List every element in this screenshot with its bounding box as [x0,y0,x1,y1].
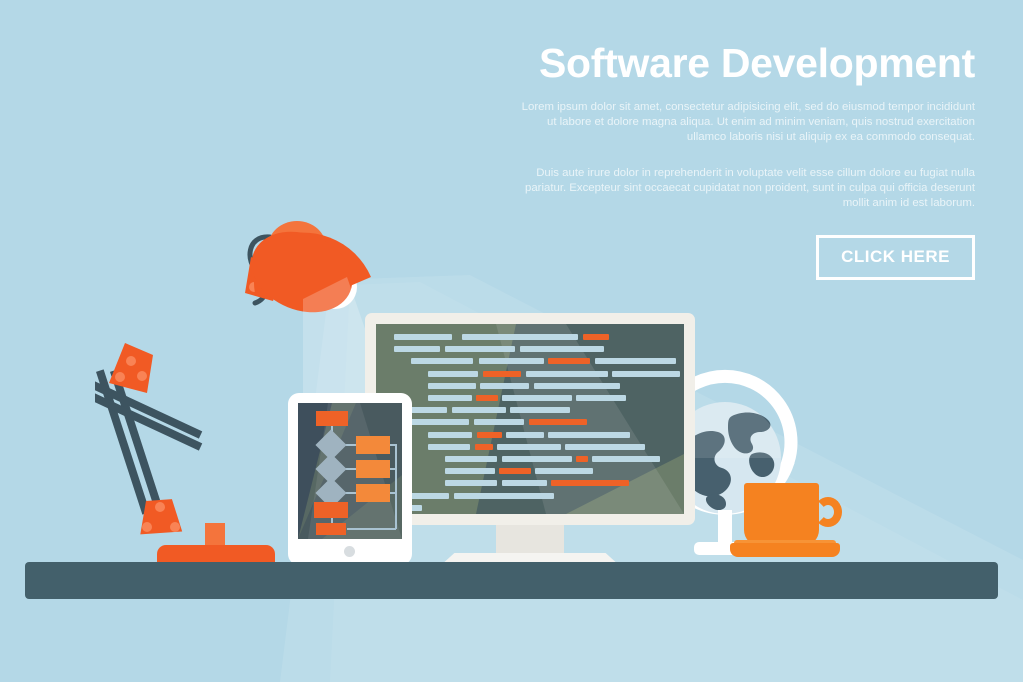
tablet-home-button[interactable] [344,546,355,557]
code-line-segment [445,480,497,486]
code-line-segment [428,444,470,450]
flow-process-node [314,502,348,518]
code-line-segment [445,346,515,352]
flow-process-node [356,460,390,478]
code-line-segment [454,493,554,499]
code-line-segment [428,395,472,401]
flow-process-node [316,523,346,535]
code-line-segment [411,407,447,413]
tablet-device [288,393,412,565]
code-line-segment [475,444,493,450]
code-line-segment [502,395,572,401]
code-line-segment [479,358,544,364]
code-line-segment [476,395,498,401]
click-here-button[interactable]: CLICK HERE [816,235,975,280]
code-line-segment [506,432,544,438]
code-line-segment [565,444,645,450]
code-line-segment [534,383,620,389]
code-line-segment [462,334,578,340]
flow-process-node [356,436,390,454]
code-line-segment [474,419,524,425]
code-line-segment [576,456,588,462]
desktop-monitor [365,313,695,563]
tablet-screen [298,403,402,539]
code-line-segment [445,468,495,474]
code-line-segment [411,419,469,425]
flow-connector [395,444,397,529]
monitor-screen [376,324,684,514]
code-line-segment [612,371,680,377]
coffee-cup [730,483,850,565]
code-line-segment [510,407,570,413]
code-line-segment [576,395,626,401]
code-line-segment [499,468,531,474]
code-line-segment [502,456,572,462]
code-line-segment [445,456,497,462]
hero-text-column: Software Development Lorem ipsum dolor s… [520,40,975,280]
code-line-segment [452,407,506,413]
flow-connector [347,528,396,530]
code-line-segment [502,480,547,486]
code-line-segment [477,432,502,438]
illustration-banner: Software Development Lorem ipsum dolor s… [0,0,1023,682]
desk-surface [25,562,998,599]
flow-process-node [356,484,390,502]
code-line-segment [535,468,593,474]
code-line-segment [529,419,587,425]
cup-body [744,483,819,546]
hero-paragraph-1: Lorem ipsum dolor sit amet, consectetur … [520,100,975,146]
hero-paragraph-2: Duis aute irure dolor in reprehenderit i… [520,166,975,212]
code-line-segment [394,334,452,340]
code-line-segment [548,358,590,364]
code-line-segment [520,346,604,352]
page-title: Software Development [520,40,975,86]
flow-process-node [316,411,348,426]
code-line-segment [526,371,608,377]
code-line-segment [497,444,561,450]
code-line-segment [483,371,521,377]
code-line-segment [595,358,676,364]
code-line-segment [583,334,609,340]
code-line-segment [428,383,476,389]
code-line-segment [428,371,478,377]
code-line-segment [428,432,472,438]
code-line-segment [411,358,473,364]
code-line-segment [480,383,529,389]
code-line-segment [394,346,440,352]
cup-saucer [730,543,840,557]
code-line-segment [551,480,629,486]
code-line-segment [411,493,449,499]
code-line-segment [592,456,660,462]
code-line-segment [548,432,630,438]
